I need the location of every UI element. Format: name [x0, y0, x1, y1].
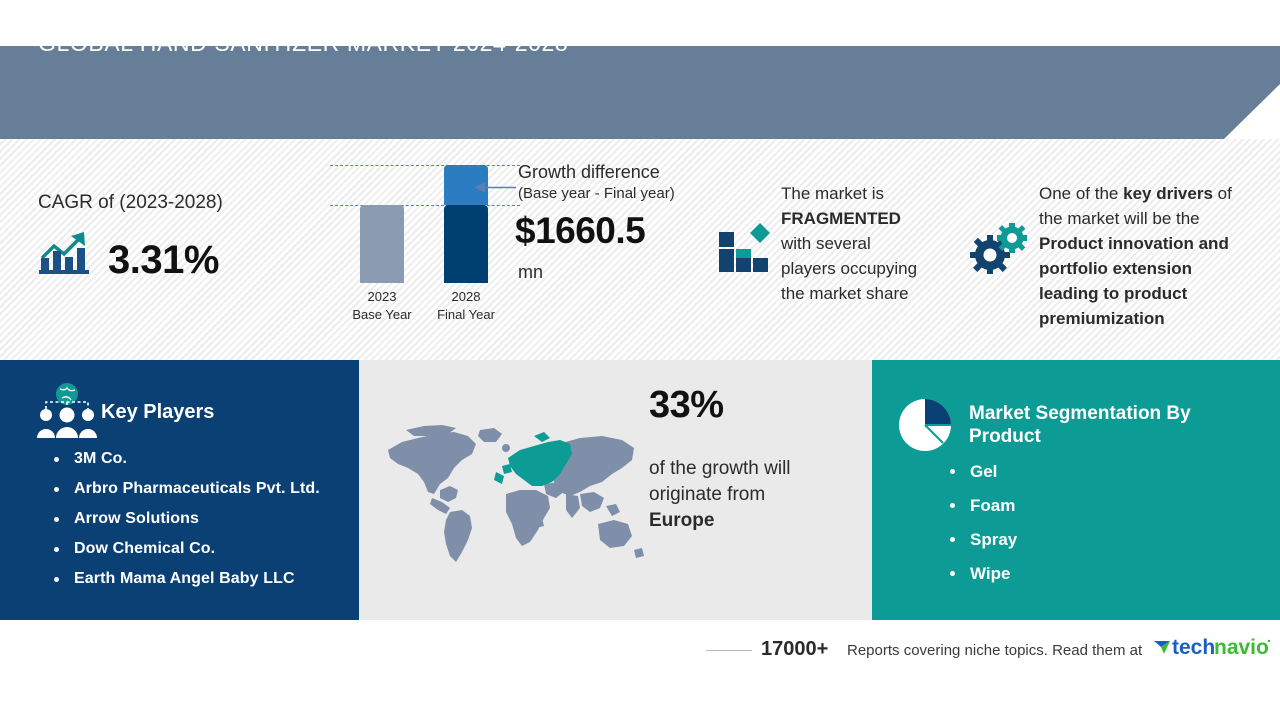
- list-item: Foam: [950, 496, 1200, 516]
- growth-difference-unit: mn: [518, 262, 543, 283]
- footer-divider: [706, 650, 752, 651]
- technavio-arrow-logo[interactable]: tech navio: [1152, 634, 1272, 660]
- growth-difference-value: $1660.5: [515, 210, 645, 252]
- svg-text:tech: tech: [1172, 636, 1215, 659]
- pie-chart-icon: [897, 397, 953, 453]
- bar-year-2028: 2028: [426, 288, 506, 306]
- bar-chart-growth-icon: [38, 228, 92, 275]
- fragmentation-line2: with several: [781, 234, 871, 253]
- fragmentation-text: The market is FRAGMENTED with several pl…: [781, 181, 956, 306]
- key-players-list: 3M Co. Arbro Pharmaceuticals Pvt. Ltd. A…: [54, 450, 354, 600]
- list-item: Wipe: [950, 564, 1200, 584]
- list-item: Spray: [950, 530, 1200, 550]
- list-item: Arrow Solutions: [54, 510, 354, 528]
- bar-label-final-year: 2028 Final Year: [426, 288, 506, 324]
- world-map: [384, 420, 644, 565]
- fragmentation-line3: players occupying: [781, 259, 917, 278]
- segmentation-title: Market Segmentation By Product: [969, 402, 1239, 448]
- page-title: GLOBAL HAND SANITIZER MARKET 2024-2028: [38, 30, 568, 57]
- header-banner: [0, 46, 1280, 139]
- drivers-bold-key-drivers: key drivers: [1123, 184, 1213, 203]
- list-item: Dow Chemical Co.: [54, 540, 354, 558]
- region-line1: of the growth will: [649, 458, 791, 479]
- bar-sublabel-base: Base Year: [342, 306, 422, 324]
- drivers-prefix: One of the: [1039, 184, 1123, 203]
- left-arrow-icon: [474, 180, 516, 191]
- footer-text: Reports covering niche topics. Read them…: [847, 642, 1142, 659]
- fragmentation-emphasis: FRAGMENTED: [781, 209, 901, 228]
- list-item: 3M Co.: [54, 450, 354, 468]
- infographic-page: GLOBAL HAND SANITIZER MARKET 2024-2028 C…: [0, 0, 1280, 720]
- key-drivers-text: One of the key drivers of the market wil…: [1039, 181, 1254, 331]
- svg-text:navio: navio: [1214, 636, 1269, 659]
- list-item: Earth Mama Angel Baby LLC: [54, 570, 354, 588]
- globe-people-network-icon: [36, 382, 98, 440]
- growth-share-text: of the growth will originate from Europe: [649, 456, 839, 534]
- region-name: Europe: [649, 510, 714, 531]
- bar-year-2023: 2023: [342, 288, 422, 306]
- gridline-top: [330, 165, 520, 166]
- fragmentation-line4: the market share: [781, 284, 909, 303]
- key-players-title: Key Players: [101, 401, 214, 424]
- list-item: Gel: [950, 462, 1200, 482]
- cagr-value: 3.31%: [108, 238, 219, 283]
- bar-sublabel-final: Final Year: [426, 306, 506, 324]
- cagr-label: CAGR of (2023-2028): [38, 192, 223, 214]
- drivers-bold-detail: Product innovation and portfolio extensi…: [1039, 234, 1229, 328]
- gears-icon: [968, 222, 1028, 274]
- gridline-base: [330, 205, 520, 206]
- squares-fragment-icon: [718, 218, 772, 272]
- region-line2: originate from: [649, 484, 765, 505]
- growth-difference-subtitle: (Base year - Final year): [518, 185, 675, 202]
- bar-final-year: [444, 205, 488, 283]
- list-item: Arbro Pharmaceuticals Pvt. Ltd.: [54, 480, 354, 498]
- segmentation-list: Gel Foam Spray Wipe: [950, 462, 1200, 598]
- growth-share-percent: 33%: [649, 384, 724, 427]
- bar-base-year: [360, 205, 404, 283]
- growth-difference-title: Growth difference: [518, 162, 660, 183]
- fragmentation-line1: The market is: [781, 184, 884, 203]
- bar-label-base-year: 2023 Base Year: [342, 288, 422, 324]
- footer-report-count: 17000+: [761, 638, 828, 661]
